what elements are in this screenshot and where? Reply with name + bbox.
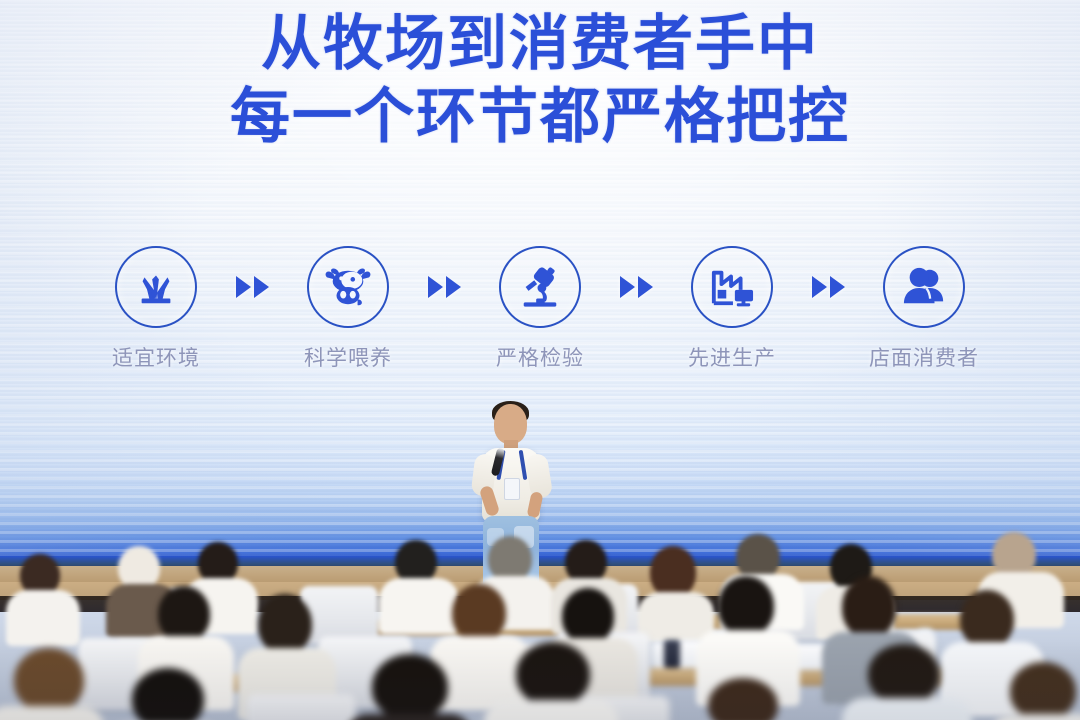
double-chevron-right-icon [446,276,461,298]
process-step-4: 先进生产 [668,246,796,372]
chair [246,694,356,720]
conference-photo: 从牧场到消费者手中 每一个环节都严格把控 适宜环境 [0,0,1080,720]
double-chevron-right-icon [620,276,635,298]
step-4-icon-circle [691,246,773,328]
flow-arrow-3 [604,276,668,298]
process-step-5: 店面消费者 [860,246,988,372]
step-2-label: 科学喂养 [304,342,392,372]
audience-head [132,668,204,720]
audience-head [1010,662,1076,720]
audience-head [516,642,590,706]
microscope-icon [516,264,564,310]
audience-body [346,714,472,720]
step-3-label: 严格检验 [496,342,584,372]
double-chevron-right-icon [638,276,653,298]
speaker-badge [504,478,520,500]
step-5-label: 店面消费者 [869,342,979,372]
grass-icon [133,264,179,310]
process-step-2: 科学喂养 [284,246,412,372]
slide-title: 从牧场到消费者手中 每一个环节都严格把控 [0,14,1080,148]
cow-icon [323,265,373,309]
step-4-label: 先进生产 [688,342,776,372]
audience-head [708,678,778,720]
step-3-icon-circle [499,246,581,328]
double-chevron-right-icon [830,276,845,298]
audience-head [372,654,448,720]
double-chevron-right-icon [236,276,251,298]
process-step-3: 严格检验 [476,246,604,372]
audience-body [990,714,1080,720]
people-icon [901,265,947,309]
process-step-1: 适宜环境 [92,246,220,372]
step-5-icon-circle [883,246,965,328]
factory-icon [708,265,756,309]
process-flow: 适宜环境 [0,246,1080,376]
speaker-head [494,404,527,444]
double-chevron-right-icon [812,276,827,298]
flow-arrow-1 [220,276,284,298]
audience-body [484,700,618,720]
step-2-icon-circle [307,246,389,328]
double-chevron-right-icon [428,276,443,298]
audience-area [0,528,1080,720]
slide-title-line-2: 每一个环节都严格把控 [0,87,1080,148]
step-1-icon-circle [115,246,197,328]
flow-arrow-2 [412,276,476,298]
audience-body [842,698,972,720]
audience-body [0,706,104,720]
step-1-label: 适宜环境 [112,342,200,372]
slide-title-line-1: 从牧场到消费者手中 [0,14,1080,75]
double-chevron-right-icon [254,276,269,298]
audience-head [14,648,84,712]
audience-head [868,644,940,704]
audience-row-near [0,528,1080,720]
flow-arrow-4 [796,276,860,298]
